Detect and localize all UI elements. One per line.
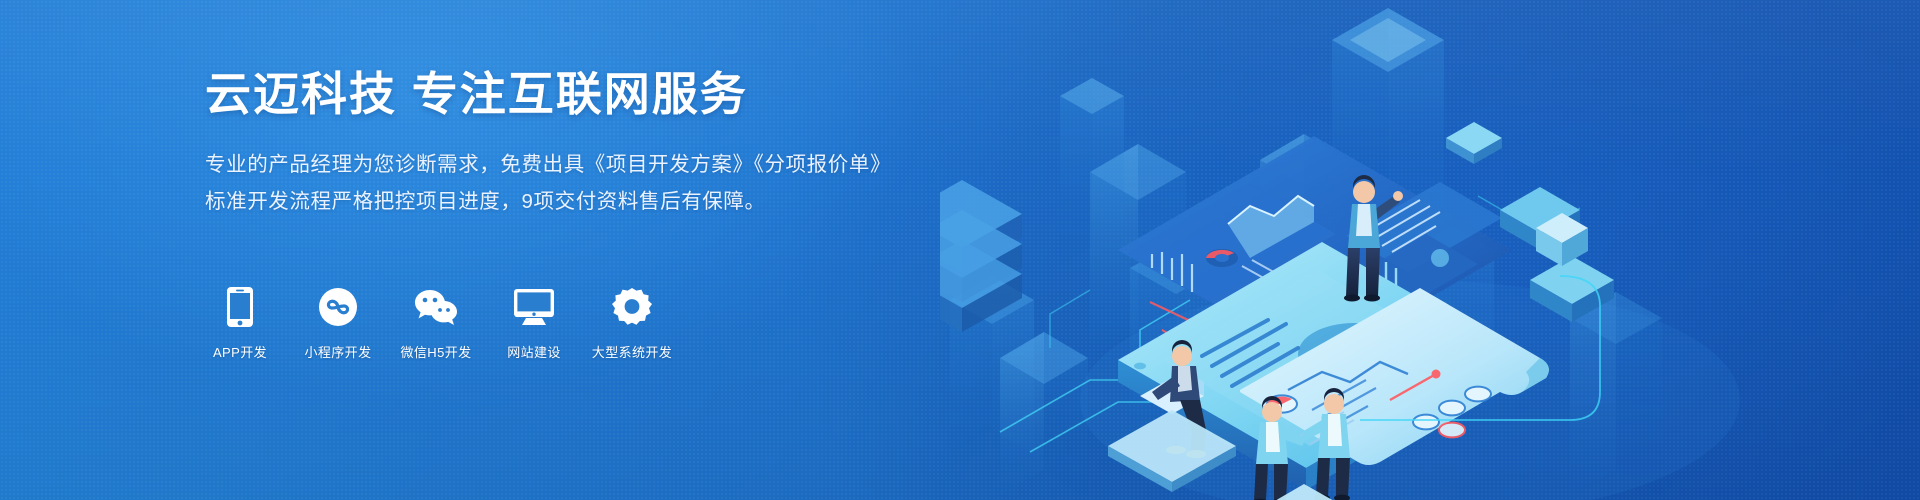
subtitle-line-1: 专业的产品经理为您诊断需求，免费出具《项目开发方案》《分项报价单》 <box>205 146 905 184</box>
service-item-website[interactable]: 网站建设 <box>499 285 569 361</box>
service-label: APP开发 <box>213 342 267 361</box>
subtitle-line-2: 标准开发流程严格把控项目进度，9项交付资料售后有保障。 <box>205 183 905 221</box>
banner-subtitle: 专业的产品经理为您诊断需求，免费出具《项目开发方案》《分项报价单》 标准开发流程… <box>205 146 905 222</box>
wechat-chat-icon <box>414 285 458 329</box>
service-label: 网站建设 <box>507 342 561 361</box>
service-label: 大型系统开发 <box>592 342 672 361</box>
mobile-phone-icon <box>226 285 254 329</box>
gear-icon <box>612 285 652 329</box>
service-list: APP开发 小程序开发 <box>205 285 667 361</box>
page-title: 云迈科技 专注互联网服务 <box>205 66 905 124</box>
service-item-large-system[interactable]: 大型系统开发 <box>597 285 667 361</box>
service-item-wechat-h5[interactable]: 微信H5开发 <box>401 285 471 361</box>
service-label: 小程序开发 <box>304 342 371 361</box>
service-item-mini-program[interactable]: 小程序开发 <box>303 285 373 361</box>
isometric-city-dashboard-illustration <box>940 0 1920 500</box>
service-item-app[interactable]: APP开发 <box>205 285 275 361</box>
desktop-monitor-icon <box>513 285 555 329</box>
mini-program-icon <box>318 285 358 329</box>
banner-text-block: 云迈科技 专注互联网服务 专业的产品经理为您诊断需求，免费出具《项目开发方案》《… <box>205 66 905 221</box>
service-label: 微信H5开发 <box>400 342 471 361</box>
promo-banner: 云迈科技 专注互联网服务 专业的产品经理为您诊断需求，免费出具《项目开发方案》《… <box>0 0 1920 500</box>
